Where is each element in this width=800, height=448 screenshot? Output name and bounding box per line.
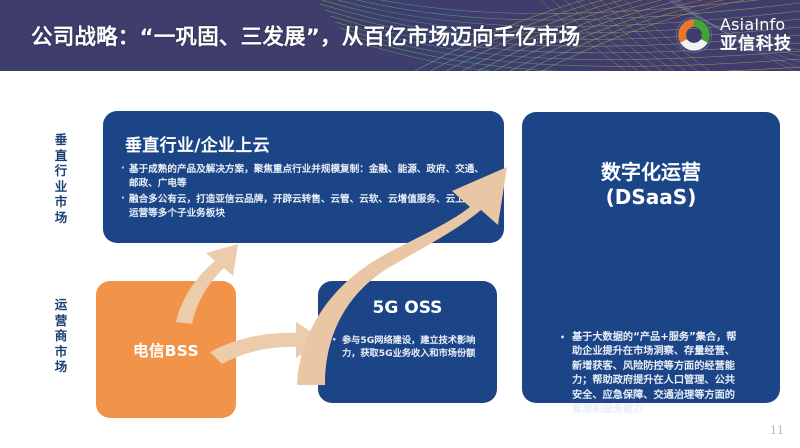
side-label-char: 运	[48, 297, 74, 313]
card-5g-oss[interactable]: 5G OSS 参与5G网络建设，建立技术影响力，获取5G业务收入和市场份额	[318, 281, 497, 403]
card-dsaas-title: 数字化运营 (DSaaS)	[522, 160, 780, 210]
logo-text-block: AsiaInfo 亚信科技	[720, 17, 792, 53]
logo-chinese-text: 亚信科技	[720, 36, 792, 53]
side-label-char: 营	[48, 313, 74, 329]
side-label-char: 行	[48, 163, 74, 179]
card-dsaas-title-line1: 数字化运营	[522, 160, 780, 185]
slide-header: 公司战略：“一巩固、三发展”，从百亿市场迈向千亿市场 AsiaInfo 亚信科技	[0, 0, 800, 71]
card-vertical-industry-bullets: 基于成熟的产品及解决方案，聚焦重点行业并规模复制：金融、能源、政府、交通、邮政、…	[121, 163, 493, 223]
card-dsaas-title-line2: (DSaaS)	[522, 185, 780, 210]
side-label-char: 场	[48, 210, 74, 226]
side-label-char: 直	[48, 148, 74, 164]
card-telecom-bss-title: 电信BSS	[96, 281, 236, 418]
side-label-char: 场	[48, 359, 74, 375]
card-telecom-bss[interactable]: 电信BSS	[96, 281, 236, 418]
company-logo[interactable]: AsiaInfo 亚信科技	[675, 9, 792, 61]
card-dsaas-bullets: 基于大数据的“产品+服务”集合，帮助企业提升在市场洞察、存量经营、新增获客、风险…	[560, 331, 740, 419]
side-label-char: 市	[48, 194, 74, 210]
side-label-char: 业	[48, 179, 74, 195]
side-label-char: 市	[48, 344, 74, 360]
bullet-item: 参与5G网络建设，建立技术影响力，获取5G业务收入和市场份额	[332, 334, 490, 360]
page-number: 11	[770, 424, 784, 437]
card-5g-oss-bullets: 参与5G网络建设，建立技术影响力，获取5G业务收入和市场份额	[332, 334, 490, 362]
asiainfo-swirl-logo-icon	[675, 16, 713, 54]
side-label-char: 垂	[48, 132, 74, 148]
slide-title: 公司战略：“一巩固、三发展”，从百亿市场迈向千亿市场	[31, 0, 580, 71]
side-label-char: 商	[48, 328, 74, 344]
logo-english-text: AsiaInfo	[720, 17, 792, 33]
bullet-item: 基于成熟的产品及解决方案，聚焦重点行业并规模复制：金融、能源、政府、交通、邮政、…	[121, 163, 493, 191]
card-vertical-industry-title: 垂直行业/企业上云	[125, 131, 270, 156]
card-vertical-industry[interactable]: 垂直行业/企业上云 基于成熟的产品及解决方案，聚焦重点行业并规模复制：金融、能源…	[103, 111, 504, 243]
card-5g-oss-title: 5G OSS	[318, 298, 497, 318]
side-label-vertical-market: 垂 直 行 业 市 场	[48, 132, 74, 225]
bullet-item: 融合多公有云，打造亚信云品牌，开辟云转售、云管、云软、云增值服务、云上客户运营等…	[121, 193, 493, 221]
side-label-operator-market: 运 营 商 市 场	[48, 297, 74, 375]
bullet-item: 基于大数据的“产品+服务”集合，帮助企业提升在市场洞察、存量经营、新增获客、风险…	[560, 331, 740, 417]
card-dsaas[interactable]: 数字化运营 (DSaaS) 基于大数据的“产品+服务”集合，帮助企业提升在市场洞…	[522, 112, 780, 403]
slide-canvas: 公司战略：“一巩固、三发展”，从百亿市场迈向千亿市场 AsiaInfo 亚信科技	[0, 0, 800, 448]
